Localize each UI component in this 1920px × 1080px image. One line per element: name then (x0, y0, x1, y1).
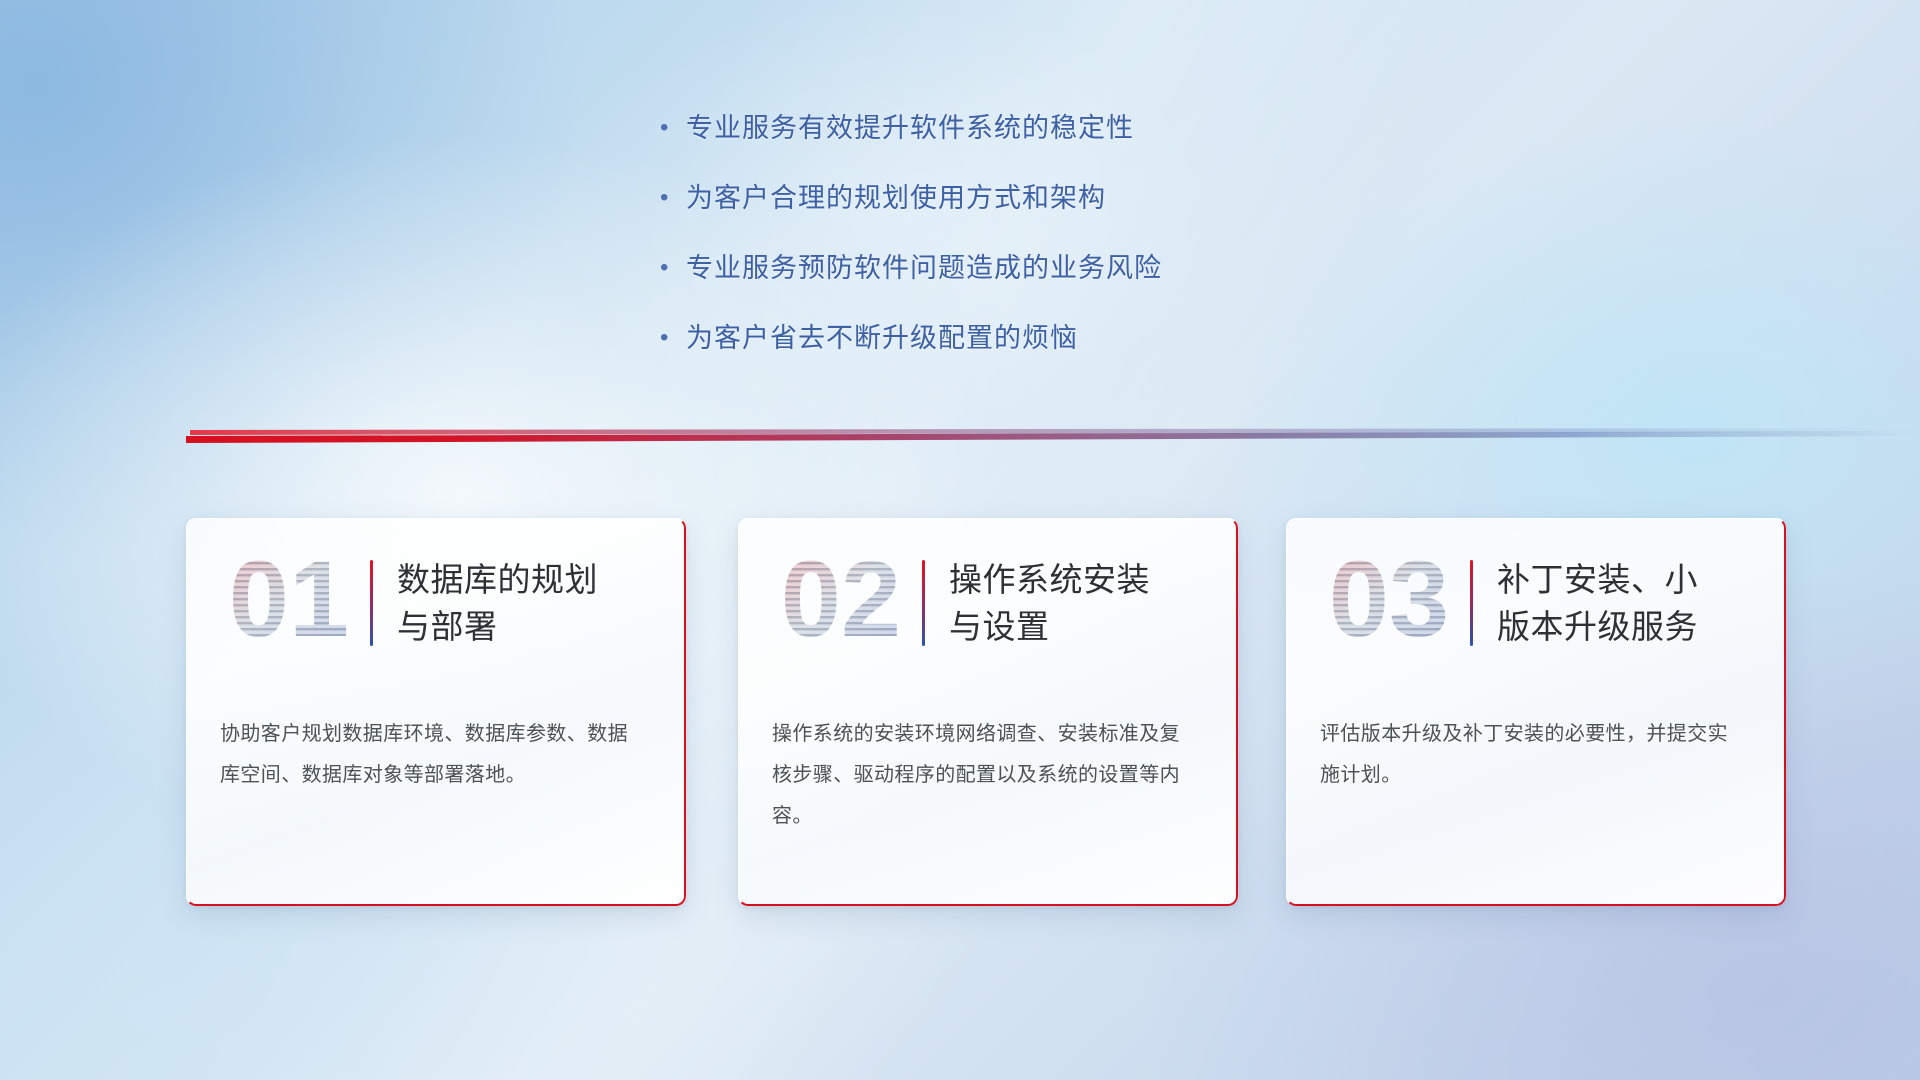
service-card[interactable]: 02 操作系统安装 与设置 操作系统的安装环境网络调查、安装标准及复核步骤、驱动… (738, 518, 1238, 906)
bullet-dot-icon: • (660, 318, 686, 358)
striped-number-icon: 02 (766, 544, 916, 662)
bullet-text: 为客户省去不断升级配置的烦恼 (686, 318, 1078, 358)
card-title: 操作系统安装 与设置 (949, 556, 1150, 650)
bullet-dot-icon: • (660, 248, 686, 288)
bullet-dot-icon: • (660, 178, 686, 218)
card-title: 补丁安装、小 版本升级服务 (1497, 556, 1698, 650)
card-body-text: 协助客户规划数据库环境、数据库参数、数据库空间、数据库对象等部署落地。 (220, 714, 646, 796)
list-item: • 专业服务有效提升软件系统的稳定性 (660, 108, 1420, 148)
card-title-accent-bar (370, 560, 373, 646)
card-title-accent-bar (1470, 560, 1473, 646)
striped-number-icon: 01 (214, 544, 364, 662)
card-number-watermark: 03 (1314, 544, 1464, 662)
card-header: 01 数据库的规划 与部署 (186, 528, 686, 678)
card-title-accent-bar (922, 560, 925, 646)
striped-number-icon: 03 (1314, 544, 1464, 662)
card-header: 03 补丁安装、小 版本升级服务 (1286, 528, 1786, 678)
divider-shape-icon (0, 412, 1920, 452)
service-cards: 01 数据库的规划 与部署 协助客户规划数据库环境、数据库参数、数据库空间、数据… (0, 518, 1920, 938)
section-divider (0, 412, 1920, 452)
list-item: • 为客户合理的规划使用方式和架构 (660, 178, 1420, 218)
card-header: 02 操作系统安装 与设置 (738, 528, 1238, 678)
bullet-text: 为客户合理的规划使用方式和架构 (686, 178, 1106, 218)
card-body-text: 操作系统的安装环境网络调查、安装标准及复核步骤、驱动程序的配置以及系统的设置等内… (772, 714, 1198, 837)
service-card[interactable]: 03 补丁安装、小 版本升级服务 评估版本升级及补丁安装的必要性，并提交实施计划… (1286, 518, 1786, 906)
card-number-watermark: 02 (766, 544, 916, 662)
list-item: • 为客户省去不断升级配置的烦恼 (660, 318, 1420, 358)
list-item: • 专业服务预防软件问题造成的业务风险 (660, 248, 1420, 288)
card-body-text: 评估版本升级及补丁安装的必要性，并提交实施计划。 (1320, 714, 1746, 796)
bullet-dot-icon: • (660, 108, 686, 148)
bullet-text: 专业服务预防软件问题造成的业务风险 (686, 248, 1162, 288)
card-title: 数据库的规划 与部署 (397, 556, 598, 650)
benefits-list: • 专业服务有效提升软件系统的稳定性 • 为客户合理的规划使用方式和架构 • 专… (660, 108, 1420, 388)
service-card[interactable]: 01 数据库的规划 与部署 协助客户规划数据库环境、数据库参数、数据库空间、数据… (186, 518, 686, 906)
bullet-text: 专业服务有效提升软件系统的稳定性 (686, 108, 1134, 148)
card-number-watermark: 01 (214, 544, 364, 662)
